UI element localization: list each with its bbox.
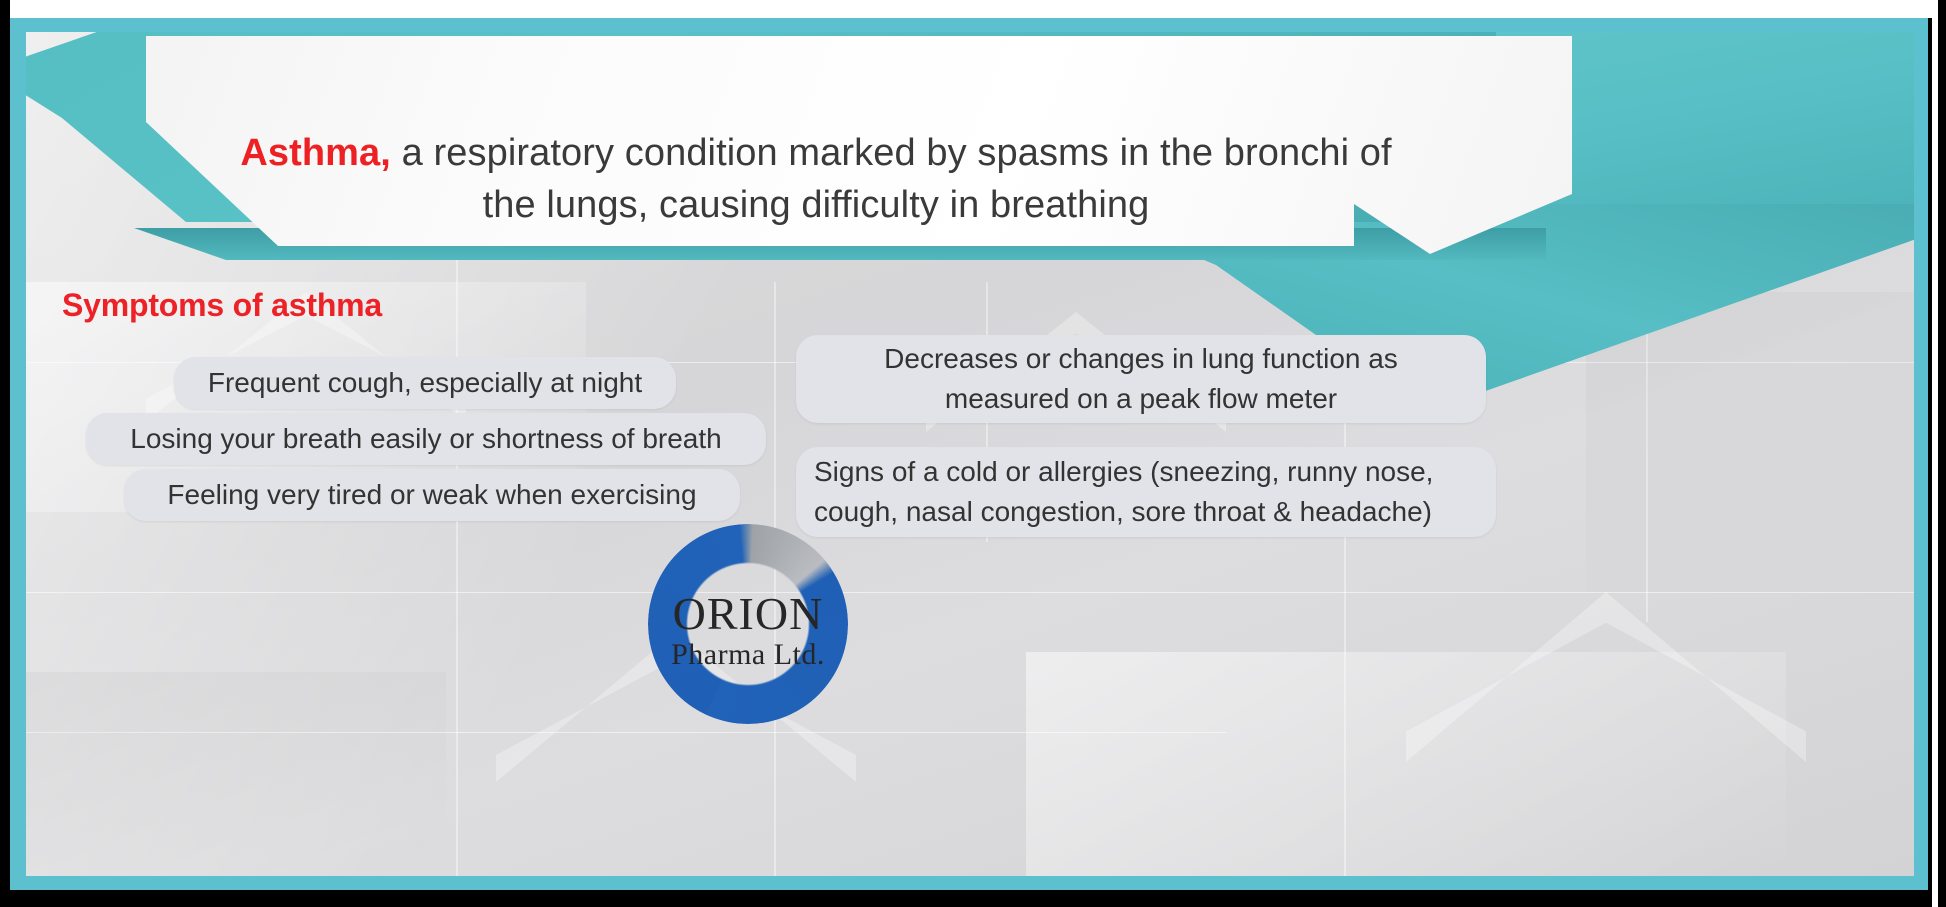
symptom-pill[interactable]: Signs of a cold or allergies (sneezing, … xyxy=(796,447,1496,537)
symptom-pill[interactable]: Losing your breath easily or shortness o… xyxy=(86,413,766,465)
symptom-pill[interactable]: Feeling very tired or weak when exercisi… xyxy=(124,469,740,521)
headline-keyword: Asthma, xyxy=(240,132,391,174)
symptom-text: Feeling very tired or weak when exercisi… xyxy=(167,475,696,515)
orion-logo-text: ORION Pharma Ltd. xyxy=(622,590,874,672)
symptom-text-line1: Signs of a cold or allergies (sneezing, … xyxy=(814,452,1433,492)
symptom-text: Losing your breath easily or shortness o… xyxy=(130,419,721,459)
orion-wordmark: ORION xyxy=(622,590,874,638)
symptom-text: Frequent cough, especially at night xyxy=(208,363,642,403)
headline-text: Asthma, a respiratory condition marked b… xyxy=(226,127,1406,231)
orion-logo: ORION Pharma Ltd. xyxy=(648,524,848,724)
top-white-strip xyxy=(10,0,1938,18)
headline-rest: a respiratory condition marked by spasms… xyxy=(391,132,1392,226)
symptom-text-line2: measured on a peak flow meter xyxy=(945,379,1337,419)
symptom-pill[interactable]: Decreases or changes in lung function as… xyxy=(796,335,1486,423)
orion-subtitle: Pharma Ltd. xyxy=(622,638,874,672)
symptom-text-line1: Decreases or changes in lung function as xyxy=(884,339,1398,379)
symptom-text-line2: cough, nasal congestion, sore throat & h… xyxy=(814,492,1432,532)
symptom-pill[interactable]: Frequent cough, especially at night xyxy=(174,357,676,409)
slide-canvas: Asthma, a respiratory condition marked b… xyxy=(26,32,1914,876)
slide-root: Asthma, a respiratory condition marked b… xyxy=(0,0,1946,907)
header-geometry: Asthma, a respiratory condition marked b… xyxy=(26,32,1914,292)
right-white-strip xyxy=(1932,0,1938,907)
section-title: Symptoms of asthma xyxy=(62,287,382,324)
